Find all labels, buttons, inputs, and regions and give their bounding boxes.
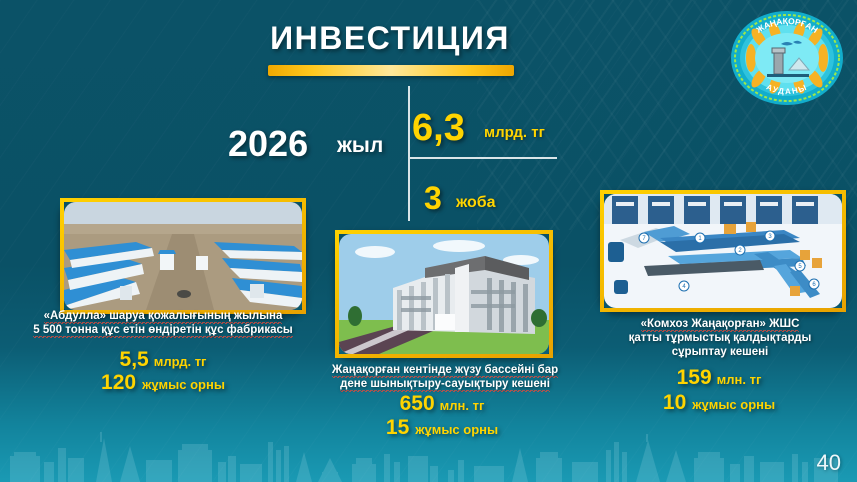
total-investment-value: 6,3 [412,107,465,150]
caption-line-3: сұрыптау кешені [672,346,768,358]
amount-value: 650 [400,392,435,415]
amount-poultry-farm: 5,5млрд. тг [120,348,207,372]
project-photo-poultry-farm [60,198,306,314]
caption-sport-complex: Жаңақорған кентінде жүзу бассейні бар де… [300,363,590,391]
title-underline-bar [268,65,514,76]
year-value: 2026 [228,123,308,165]
jobs-unit: жұмыс орны [692,397,775,412]
projects-count-value: 3 [424,180,442,217]
caption-waste-sorting: «Комхоз Жаңақорған» ЖШС қатты тұрмыстық … [600,317,840,359]
caption-line-1: «Комхоз Жаңақорған» ЖШС [641,318,800,332]
kpi-horizontal-divider [410,157,557,159]
project-photo-waste-sorting: 123 456 7 [600,190,846,312]
projects-count-unit: жоба [456,194,496,212]
amount-value: 5,5 [120,348,149,371]
caption-poultry-farm: «Абдулла» шаруа қожалығының жылына 5 500… [18,309,308,337]
district-emblem-logo: ЖАҢАҚОРҒАН АУДАНЫ [727,8,847,108]
amount-unit: млн. тг [717,372,762,387]
caption-line-1: «Абдулла» шаруа қожалығының жылына [44,310,283,324]
page-title: ИНВЕСТИЦИЯ [0,20,780,57]
amount-unit: млрд. тг [154,354,207,369]
caption-line-2: 5 500 тонна құс етін өндіретін құс фабри… [33,324,292,338]
amount-waste-sorting: 159млн. тг [677,366,762,390]
caption-line-2: дене шынықтыру-сауықтыру кешені [340,378,550,392]
kpi-vertical-divider [408,86,410,221]
caption-line-2: қатты тұрмыстық қалдықтарды [629,332,812,344]
jobs-sport-complex: 15жұмыс орны [386,416,498,440]
page-number: 40 [817,450,841,476]
jobs-unit: жұмыс орны [415,422,498,437]
amount-sport-complex: 650млн. тг [400,392,485,416]
amount-value: 159 [677,366,712,389]
jobs-value: 120 [101,371,136,394]
jobs-value: 15 [386,416,409,439]
project-photo-sport-complex [335,230,553,358]
jobs-value: 10 [663,391,686,414]
jobs-waste-sorting: 10жұмыс орны [663,391,775,415]
amount-unit: млн. тг [440,398,485,413]
slide-canvas: ИНВЕСТИЦИЯ [0,0,857,482]
year-unit-label: жыл [337,134,383,158]
jobs-unit: жұмыс орны [142,377,225,392]
caption-line-1: Жаңақорған кентінде жүзу бассейні бар [332,364,558,378]
jobs-poultry-farm: 120жұмыс орны [101,371,225,395]
total-investment-unit: млрд. тг [484,124,545,141]
